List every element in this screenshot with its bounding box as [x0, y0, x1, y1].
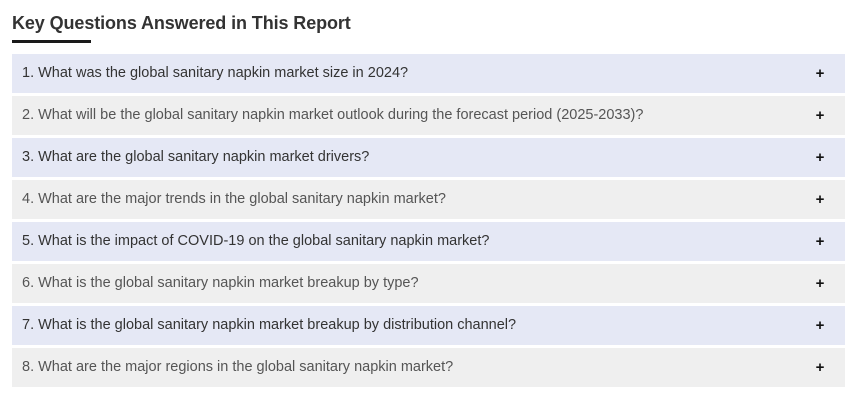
plus-icon[interactable]: +: [803, 192, 837, 207]
faq-question-5: 5. What is the impact of COVID-19 on the…: [22, 232, 489, 251]
faq-item-8[interactable]: 8. What are the major regions in the glo…: [12, 348, 845, 387]
plus-icon[interactable]: +: [803, 276, 837, 291]
plus-icon[interactable]: +: [803, 66, 837, 81]
faq-item-5[interactable]: 5. What is the impact of COVID-19 on the…: [12, 222, 845, 261]
plus-icon[interactable]: +: [803, 234, 837, 249]
faq-question-8: 8. What are the major regions in the glo…: [22, 358, 453, 377]
faq-item-7[interactable]: 7. What is the global sanitary napkin ma…: [12, 306, 845, 345]
faq-item-3[interactable]: 3. What are the global sanitary napkin m…: [12, 138, 845, 177]
faq-accordion-list: 1. What was the global sanitary napkin m…: [0, 54, 857, 387]
faq-item-6[interactable]: 6. What is the global sanitary napkin ma…: [12, 264, 845, 303]
plus-icon[interactable]: +: [803, 360, 837, 375]
faq-question-4: 4. What are the major trends in the glob…: [22, 190, 446, 209]
faq-item-1[interactable]: 1. What was the global sanitary napkin m…: [12, 54, 845, 93]
faq-question-6: 6. What is the global sanitary napkin ma…: [22, 274, 419, 293]
plus-icon[interactable]: +: [803, 150, 837, 165]
plus-icon[interactable]: +: [803, 318, 837, 333]
faq-question-3: 3. What are the global sanitary napkin m…: [22, 148, 369, 167]
faq-question-1: 1. What was the global sanitary napkin m…: [22, 64, 408, 83]
page-title: Key Questions Answered in This Report: [0, 0, 857, 35]
faq-question-2: 2. What will be the global sanitary napk…: [22, 106, 643, 125]
faq-item-2[interactable]: 2. What will be the global sanitary napk…: [12, 96, 845, 135]
faq-question-7: 7. What is the global sanitary napkin ma…: [22, 316, 516, 335]
title-underline-accent: [12, 40, 91, 43]
plus-icon[interactable]: +: [803, 108, 837, 123]
faq-item-4[interactable]: 4. What are the major trends in the glob…: [12, 180, 845, 219]
faq-section: Key Questions Answered in This Report 1.…: [0, 0, 857, 402]
